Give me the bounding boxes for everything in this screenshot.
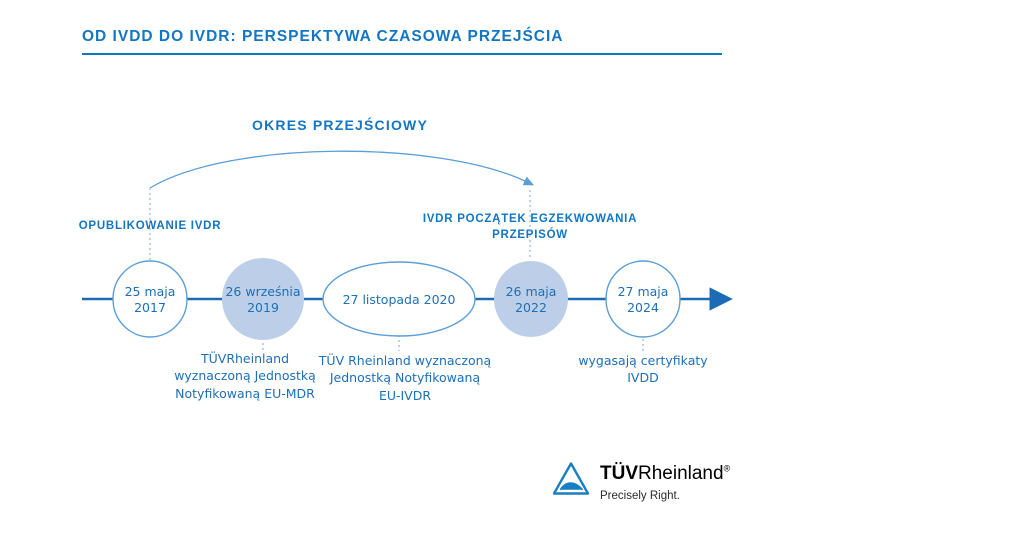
- logo-text-block: TÜVRheinland® Precisely Right.: [600, 460, 730, 502]
- caption-expire-line1: wygasają certyfikaty: [565, 352, 721, 369]
- transition-arc: [150, 151, 527, 188]
- node-shape-2024[interactable]: [606, 261, 680, 337]
- node-shape-2017[interactable]: [113, 261, 187, 337]
- logo-tagline: Precisely Right.: [600, 490, 730, 502]
- caption-ivdr-line2: Jednostką Notyfikowaną: [310, 369, 500, 386]
- caption-expire: wygasają certyfikaty IVDD: [565, 352, 721, 387]
- logo-brand-regular: Rheinland: [638, 463, 724, 484]
- caption-expire-line2: IVDD: [565, 369, 721, 386]
- timeline-diagram: [0, 0, 1024, 535]
- caption-ivdr-line3: EU-IVDR: [310, 387, 500, 404]
- tuv-triangle-icon: [551, 460, 591, 500]
- node-shape-2022[interactable]: [494, 261, 568, 337]
- node-shape-2019[interactable]: [222, 258, 304, 340]
- node-shape-2020[interactable]: [323, 262, 475, 336]
- tuv-rheinland-logo: TÜVRheinland® Precisely Right.: [551, 460, 730, 502]
- registered-trademark-icon: ®: [724, 464, 731, 474]
- caption-ivdr-line1: TÜV Rheinland wyznaczoną: [310, 352, 500, 369]
- caption-ivdr: TÜV Rheinland wyznaczoną Jednostką Notyf…: [310, 352, 500, 404]
- logo-brand-bold: TÜV: [600, 463, 638, 484]
- logo-wordmark: TÜVRheinland®: [600, 464, 730, 483]
